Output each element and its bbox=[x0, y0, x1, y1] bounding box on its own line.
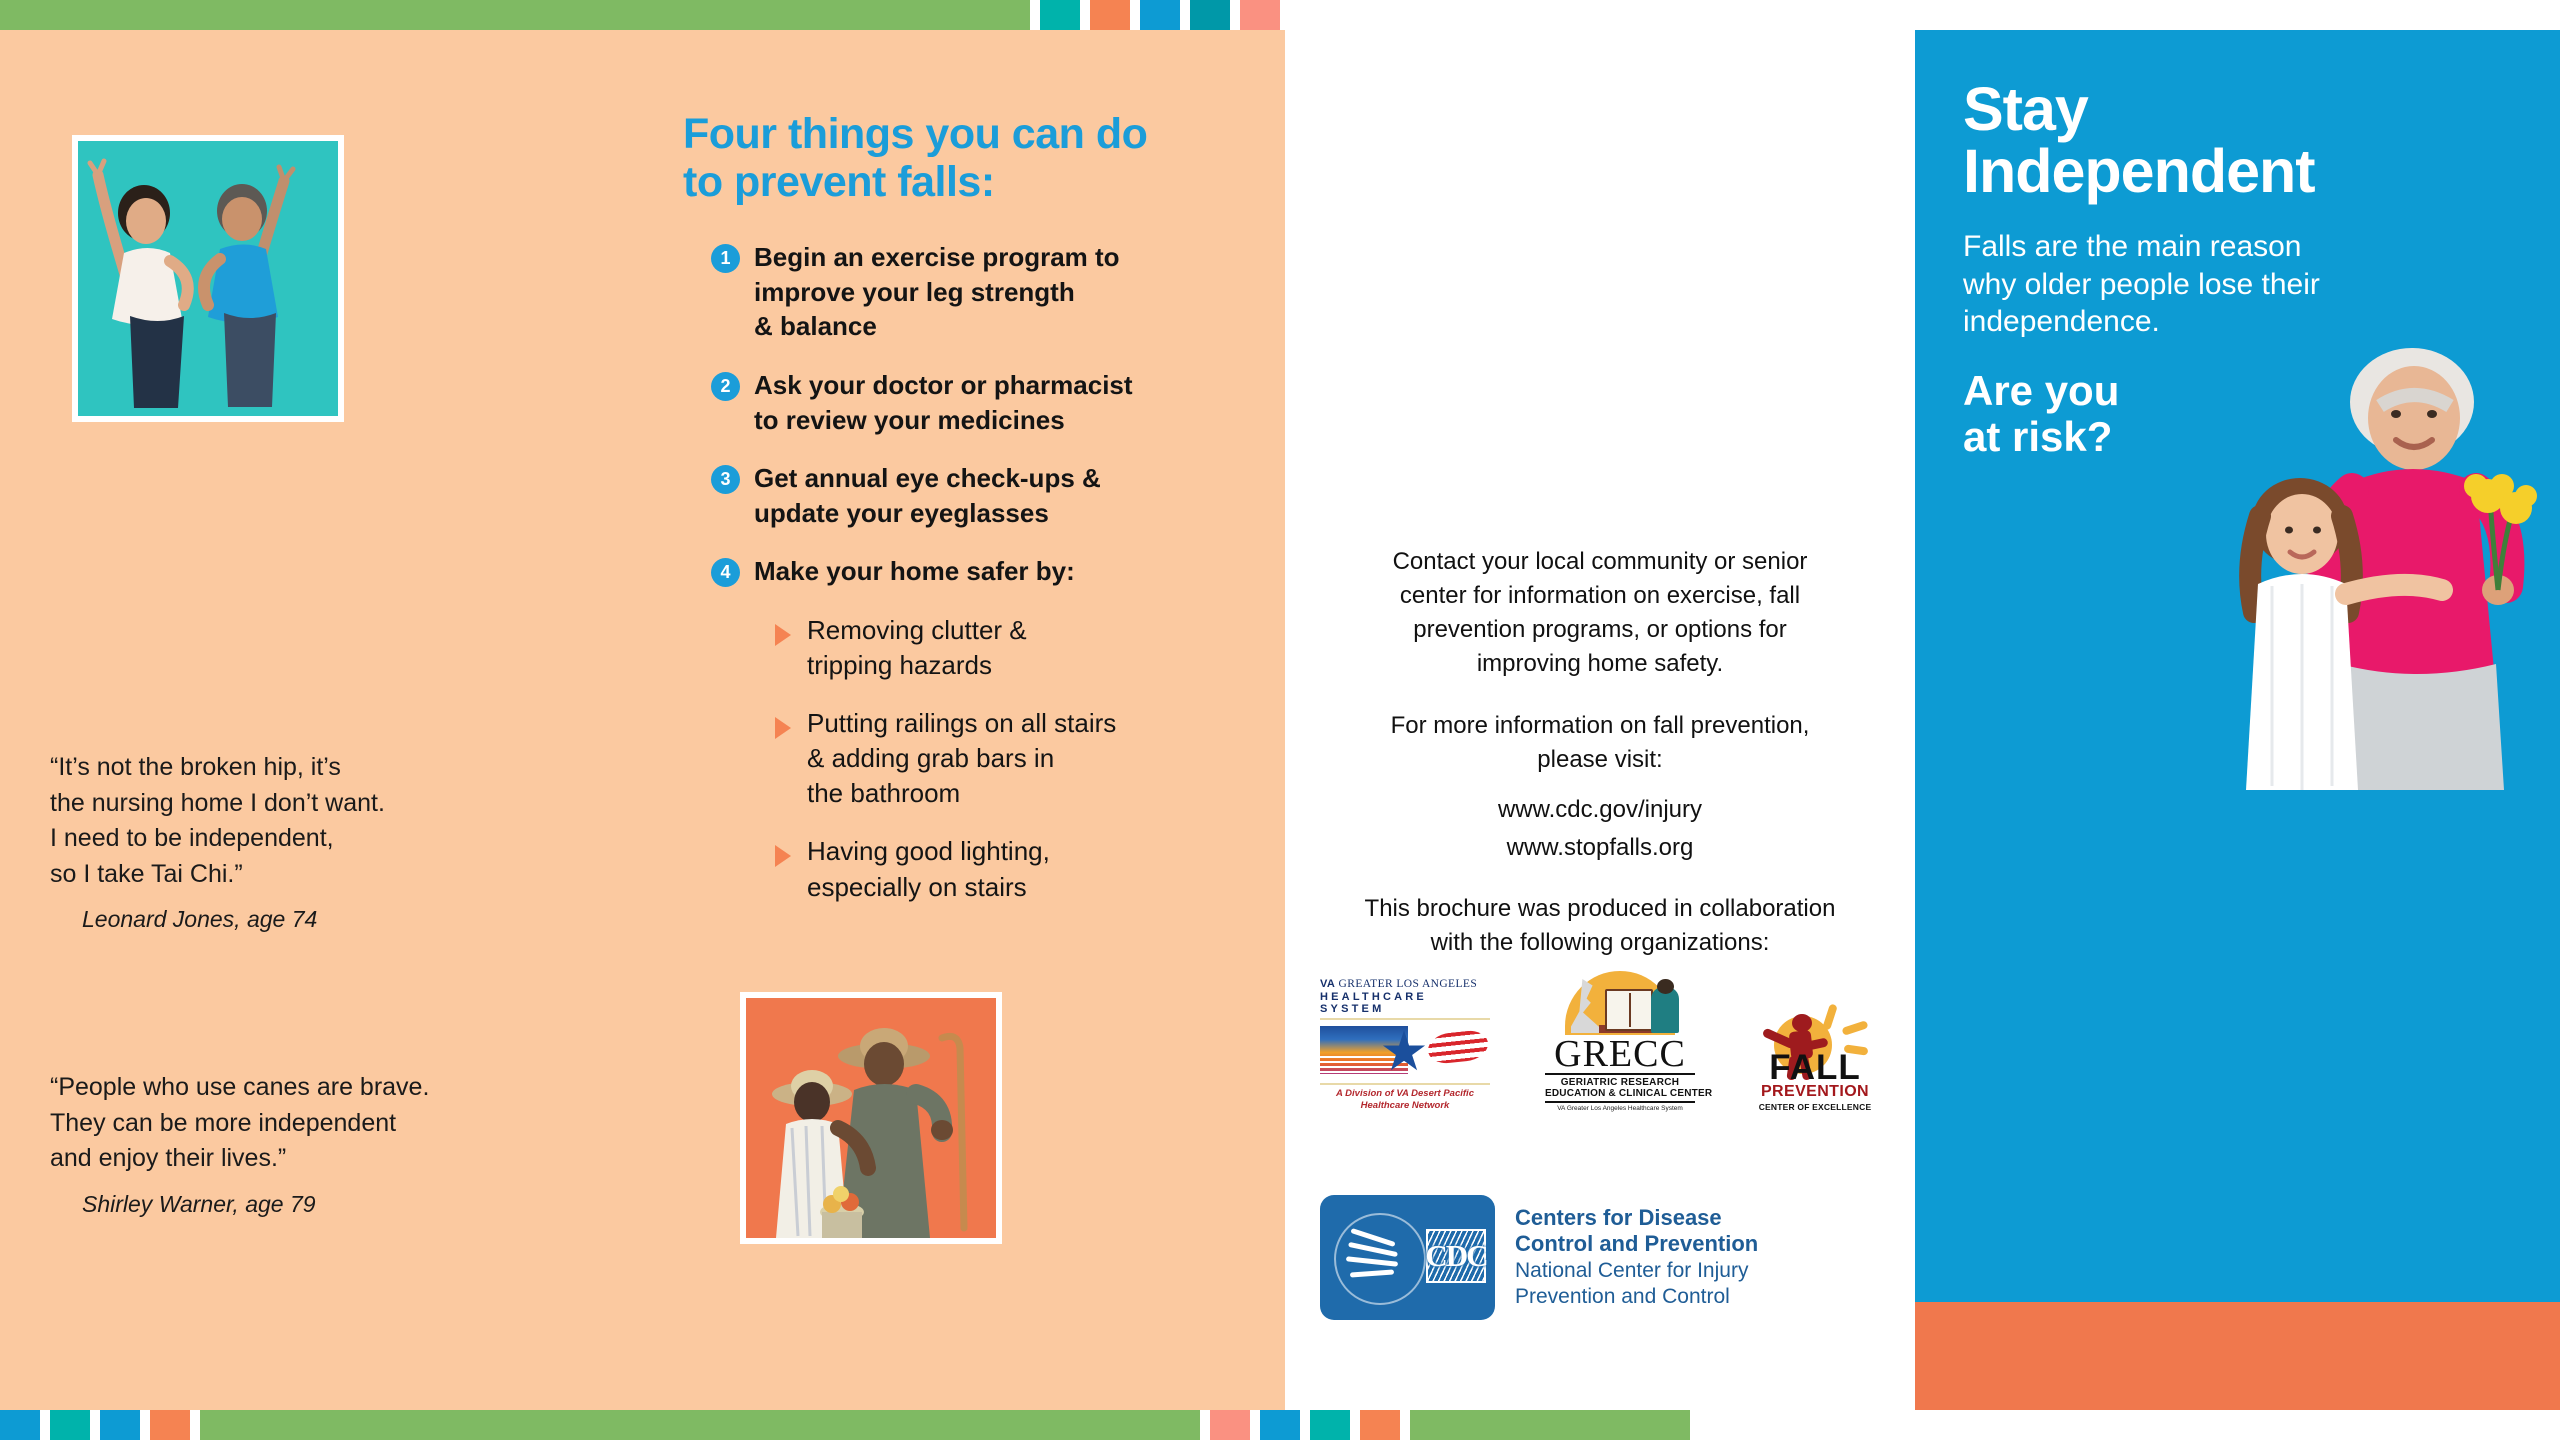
divider bbox=[1320, 1083, 1490, 1085]
color-bar-gap bbox=[1080, 0, 1090, 30]
quote-attribution: Leonard Jones, age 74 bbox=[82, 906, 385, 933]
photo-couple-with-cane bbox=[740, 992, 1002, 1244]
flag-waves-icon bbox=[1428, 1029, 1488, 1065]
color-bar-segment bbox=[1040, 0, 1080, 30]
star-icon: ★ bbox=[1376, 1026, 1432, 1078]
list-item: Having good lighting, especially on stai… bbox=[775, 834, 1243, 904]
open-book-icon bbox=[1605, 989, 1653, 1031]
photo-exercise-illustration bbox=[78, 141, 338, 416]
color-bar-gap bbox=[1250, 1410, 1260, 1440]
color-bar-segment bbox=[1260, 1410, 1300, 1440]
grecc-line3: VA Greater Los Angeles Healthcare System bbox=[1545, 1105, 1695, 1112]
bottom-color-bar bbox=[0, 1410, 2560, 1440]
color-bar-gap bbox=[1350, 1410, 1360, 1440]
grecc-line2: EDUCATION & CLINICAL CENTER bbox=[1545, 1088, 1695, 1099]
logo-va-greater-los-angeles: VA GREATER LOS ANGELES HEALTHCARE SYSTEM… bbox=[1320, 978, 1490, 1112]
triangle-bullet-icon bbox=[775, 624, 791, 646]
brochure-page: “It’s not the broken hip, it’s the nursi… bbox=[0, 0, 2560, 1440]
grecc-wordmark: GRECC bbox=[1545, 1037, 1695, 1071]
photo-exercise-couple bbox=[72, 135, 344, 422]
home-safety-sub-list: Removing clutter & tripping hazards Putt… bbox=[683, 613, 1243, 905]
color-bar-segment bbox=[1190, 0, 1230, 30]
left-panel: “It’s not the broken hip, it’s the nursi… bbox=[0, 30, 1285, 1410]
four-things-title: Four things you can do to prevent falls: bbox=[683, 110, 1243, 206]
list-item: Putting railings on all stairs & adding … bbox=[775, 706, 1243, 811]
divider bbox=[1320, 1018, 1490, 1020]
color-bar-gap bbox=[1230, 0, 1240, 30]
color-bar-gap bbox=[40, 1410, 50, 1440]
list-item: 4 Make your home safer by: bbox=[683, 554, 1243, 589]
cdc-text-lockup: Centers for Disease Control and Preventi… bbox=[1515, 1205, 1758, 1309]
triangle-bullet-icon bbox=[775, 717, 791, 739]
divider bbox=[1545, 1101, 1695, 1103]
quote-text: “It’s not the broken hip, it’s the nursi… bbox=[50, 750, 385, 892]
cdc-letters: CDC bbox=[1428, 1231, 1484, 1281]
hhs-bird-icon bbox=[1346, 1229, 1408, 1281]
bottom-orange-block bbox=[1915, 1302, 2560, 1410]
quote-shirley-warner: “People who use canes are brave. They ca… bbox=[50, 1070, 429, 1218]
quote-attribution: Shirley Warner, age 79 bbox=[82, 1191, 429, 1218]
ray-icon bbox=[1841, 1020, 1868, 1036]
step-text: Ask your doctor or pharmacist to review … bbox=[754, 368, 1133, 437]
color-bar-segment bbox=[50, 1410, 90, 1440]
sub-item-text: Removing clutter & tripping hazards bbox=[807, 613, 1027, 683]
link-cdc-injury[interactable]: www.cdc.gov/injury bbox=[1320, 791, 1880, 828]
fall-wordmark: FALL bbox=[1750, 1054, 1880, 1083]
color-bar-gap bbox=[1200, 1410, 1210, 1440]
color-bar-segment bbox=[200, 1410, 1200, 1440]
color-bar-gap bbox=[90, 1410, 100, 1440]
color-bar-gap bbox=[1300, 1410, 1310, 1440]
color-bar-segment bbox=[1090, 0, 1130, 30]
step-text: Make your home safer by: bbox=[754, 554, 1075, 589]
color-bar-segment bbox=[100, 1410, 140, 1440]
color-bar-gap bbox=[190, 1410, 200, 1440]
color-bar-segment bbox=[1410, 1410, 1690, 1440]
step-number-badge: 1 bbox=[711, 244, 740, 273]
color-bar-segment bbox=[1310, 1410, 1350, 1440]
prevention-wordmark: PREVENTION bbox=[1750, 1084, 1880, 1100]
va-logo-abbrev: VA bbox=[1320, 978, 1335, 990]
step-number-badge: 2 bbox=[711, 372, 740, 401]
center-copy: Contact your local community or senior c… bbox=[1320, 545, 1880, 960]
list-item: 1 Begin an exercise program to improve y… bbox=[683, 240, 1243, 344]
collaboration-paragraph: This brochure was produced in collaborat… bbox=[1320, 892, 1880, 960]
va-logo-line1: VA GREATER LOS ANGELES bbox=[1320, 978, 1490, 990]
center-panel: Contact your local community or senior c… bbox=[1285, 0, 1915, 1440]
sub-item-text: Having good lighting, especially on stai… bbox=[807, 834, 1050, 904]
color-bar-segment bbox=[150, 1410, 190, 1440]
top-color-bar bbox=[0, 0, 2560, 30]
color-bar-gap bbox=[1180, 0, 1190, 30]
color-bar-segment bbox=[1360, 1410, 1400, 1440]
cdc-hatch-mark: CDC bbox=[1426, 1229, 1486, 1283]
list-item: 3 Get annual eye check-ups & update your… bbox=[683, 461, 1243, 530]
color-bar-segment bbox=[0, 0, 1030, 30]
cdc-title: Centers for Disease Control and Preventi… bbox=[1515, 1205, 1758, 1257]
color-bar-gap bbox=[1130, 0, 1140, 30]
four-things-section: Four things you can do to prevent falls:… bbox=[683, 110, 1243, 928]
va-logo-name: GREATER LOS ANGELES bbox=[1339, 978, 1478, 990]
right-panel: Stay Independent Falls are the main reas… bbox=[1915, 30, 2560, 1410]
va-logo-line2: HEALTHCARE SYSTEM bbox=[1320, 991, 1490, 1015]
quote-leonard-jones: “It’s not the broken hip, it’s the nursi… bbox=[50, 750, 385, 933]
step-text: Get annual eye check-ups & update your e… bbox=[754, 461, 1101, 530]
list-item: Removing clutter & tripping hazards bbox=[775, 613, 1243, 683]
step-number-badge: 3 bbox=[711, 465, 740, 494]
color-bar-gap bbox=[140, 1410, 150, 1440]
list-item: 2 Ask your doctor or pharmacist to revie… bbox=[683, 368, 1243, 437]
more-info-paragraph: For more information on fall prevention,… bbox=[1320, 709, 1880, 777]
contact-paragraph: Contact your local community or senior c… bbox=[1320, 545, 1880, 681]
clinician-head-icon bbox=[1657, 979, 1674, 994]
triangle-bullet-icon bbox=[775, 845, 791, 867]
sub-item-text: Putting railings on all stairs & adding … bbox=[807, 706, 1116, 811]
photo-woman-girl-illustration bbox=[2180, 340, 2560, 790]
photo-woman-and-girl bbox=[2180, 340, 2560, 790]
va-logo-tagline: A Division of VA Desert Pacific Healthca… bbox=[1320, 1088, 1490, 1112]
cdc-badge: CDC bbox=[1320, 1195, 1495, 1320]
color-bar-segment bbox=[1240, 0, 1280, 30]
step-text: Begin an exercise program to improve you… bbox=[754, 240, 1120, 344]
cover-subtitle: Falls are the main reason why older peop… bbox=[1963, 228, 2523, 340]
color-bar-segment bbox=[1140, 0, 1180, 30]
four-things-list: 1 Begin an exercise program to improve y… bbox=[683, 240, 1243, 589]
center-of-excellence-line: CENTER OF EXCELLENCE bbox=[1750, 1102, 1880, 1112]
color-bar-segment bbox=[0, 1410, 40, 1440]
logo-grecc: GRECC GERIATRIC RESEARCH EDUCATION & CLI… bbox=[1545, 965, 1695, 1112]
grecc-logo-artwork bbox=[1545, 965, 1695, 1037]
photo-couple-illustration bbox=[746, 998, 996, 1238]
partner-logos: VA GREATER LOS ANGELES HEALTHCARE SYSTEM… bbox=[1320, 965, 1880, 1112]
color-bar-segment bbox=[1210, 1410, 1250, 1440]
link-stopfalls[interactable]: www.stopfalls.org bbox=[1320, 829, 1880, 866]
color-bar-gap bbox=[1030, 0, 1040, 30]
cover-title: Stay Independent bbox=[1963, 78, 2523, 202]
grecc-line1: GERIATRIC RESEARCH bbox=[1545, 1077, 1695, 1088]
step-number-badge: 4 bbox=[711, 558, 740, 587]
color-bar-gap bbox=[1400, 1410, 1410, 1440]
logo-fall-prevention: FALL PREVENTION CENTER OF EXCELLENCE bbox=[1750, 1002, 1880, 1113]
logo-cdc: CDC Centers for Disease Control and Prev… bbox=[1320, 1195, 1890, 1320]
va-logo-artwork: ★ bbox=[1320, 1022, 1490, 1080]
quote-text: “People who use canes are brave. They ca… bbox=[50, 1070, 429, 1177]
cdc-subtitle: National Center for Injury Prevention an… bbox=[1515, 1258, 1758, 1309]
